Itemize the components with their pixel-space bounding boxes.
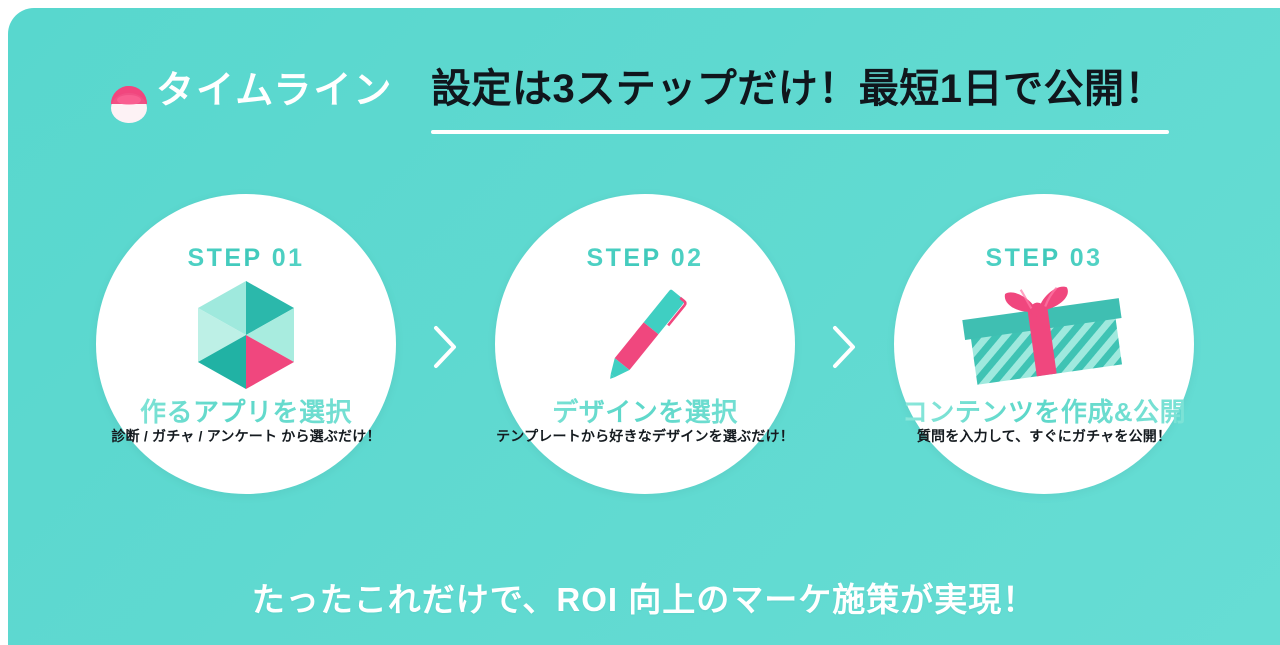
pen-icon <box>495 280 795 390</box>
chevron-right-icon <box>831 324 857 370</box>
pink-cap-circle-icon <box>107 84 151 126</box>
gift-box-icon <box>894 280 1194 390</box>
step-card-1[interactable]: STEP 01 作るアプリを選択 診断 / ガチャ / アンケート から選ぶだけ… <box>96 194 396 494</box>
step-card-3[interactable]: STEP 03 <box>894 194 1194 494</box>
step-title-1: 作るアプリを選択 <box>96 392 396 429</box>
step-card-2[interactable]: STEP 02 <box>495 194 795 494</box>
hexagon-cube-icon <box>96 280 396 390</box>
steps-row: STEP 01 作るアプリを選択 診断 / ガチャ / アンケート から選ぶだけ… <box>8 194 1280 514</box>
footer-tagline: たったこれだけで、ROI 向上のマーケ施策が実現！ <box>8 573 1280 621</box>
step-label-1: STEP 01 <box>96 244 396 273</box>
teal-panel: タイムライン 設定は3ステップだけ！最短1日で公開！ STEP 01 作 <box>8 8 1280 645</box>
header-title-block: 設定は3ステップだけ！最短1日で公開！ <box>431 60 1173 118</box>
step-label-3: STEP 03 <box>894 244 1194 273</box>
page-title: 設定は3ステップだけ！最短1日で公開！ <box>431 60 1173 118</box>
step-title-2: デザインを選択 <box>495 392 795 429</box>
chevron-right-icon <box>432 324 458 370</box>
title-underline <box>431 130 1169 134</box>
brand-label: タイムライン <box>156 72 393 110</box>
step-subtitle-1: 診断 / ガチャ / アンケート から選ぶだけ！ <box>74 426 418 446</box>
step-title-3: コンテンツを作成&公開 <box>894 392 1194 429</box>
step-subtitle-3: 質問を入力して、すぐにガチャを公開！ <box>872 426 1216 446</box>
step-subtitle-2: テンプレートから好きなデザインを選ぶだけ！ <box>473 426 817 446</box>
step-label-2: STEP 02 <box>495 244 795 273</box>
